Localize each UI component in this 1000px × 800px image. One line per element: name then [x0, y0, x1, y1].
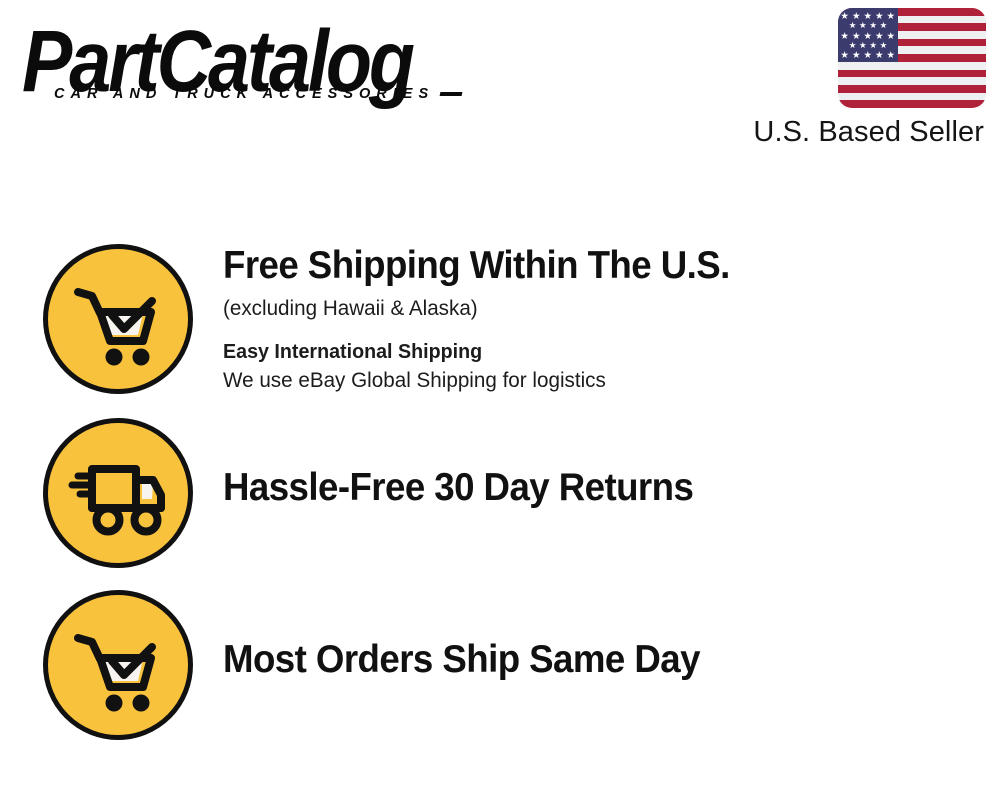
brand-tagline: CAR AND TRUCK ACCESSORIES	[54, 86, 434, 102]
feature-subline: We use eBay Global Shipping for logistic…	[223, 367, 969, 394]
feature-subline: (excluding Hawaii & Alaska)	[223, 295, 969, 322]
feature-text: Hassle-Free 30 Day Returns	[193, 418, 1000, 510]
shopping-cart-check-icon	[43, 590, 193, 740]
us-based-seller-block: ★ ★ ★ ★ ★ ★ ★ ★ ★ ★ ★ ★ ★ ★ ★ ★ ★ ★ ★ ★ …	[700, 8, 986, 149]
delivery-truck-icon	[43, 418, 193, 568]
feature-row: Hassle-Free 30 Day Returns	[0, 418, 1000, 568]
feature-headline: Most Orders Ship Same Day	[223, 638, 953, 682]
feature-headline: Hassle-Free 30 Day Returns	[223, 466, 953, 510]
feature-subline: Easy International Shipping	[223, 338, 969, 365]
us-based-seller-label: U.S. Based Seller	[700, 115, 984, 149]
feature-headline: Free Shipping Within The U.S.	[223, 244, 953, 288]
us-flag-icon: ★ ★ ★ ★ ★ ★ ★ ★ ★ ★ ★ ★ ★ ★ ★ ★ ★ ★ ★ ★ …	[838, 8, 986, 108]
feature-row: Most Orders Ship Same Day	[0, 590, 1000, 740]
feature-row: Free Shipping Within The U.S. (excluding…	[0, 244, 1000, 394]
feature-text: Most Orders Ship Same Day	[193, 590, 1000, 682]
shipping-info-banner: PartCatalog CAR AND TRUCK ACCESSORIES ★ …	[0, 0, 1000, 800]
flag-star-row: ★ ★ ★ ★ ★	[838, 51, 898, 61]
shopping-cart-check-icon	[43, 244, 193, 394]
feature-text: Free Shipping Within The U.S. (excluding…	[193, 244, 1000, 394]
brand-tagline-row: CAR AND TRUCK ACCESSORIES	[54, 86, 484, 102]
tagline-rule-decoration	[440, 92, 463, 96]
